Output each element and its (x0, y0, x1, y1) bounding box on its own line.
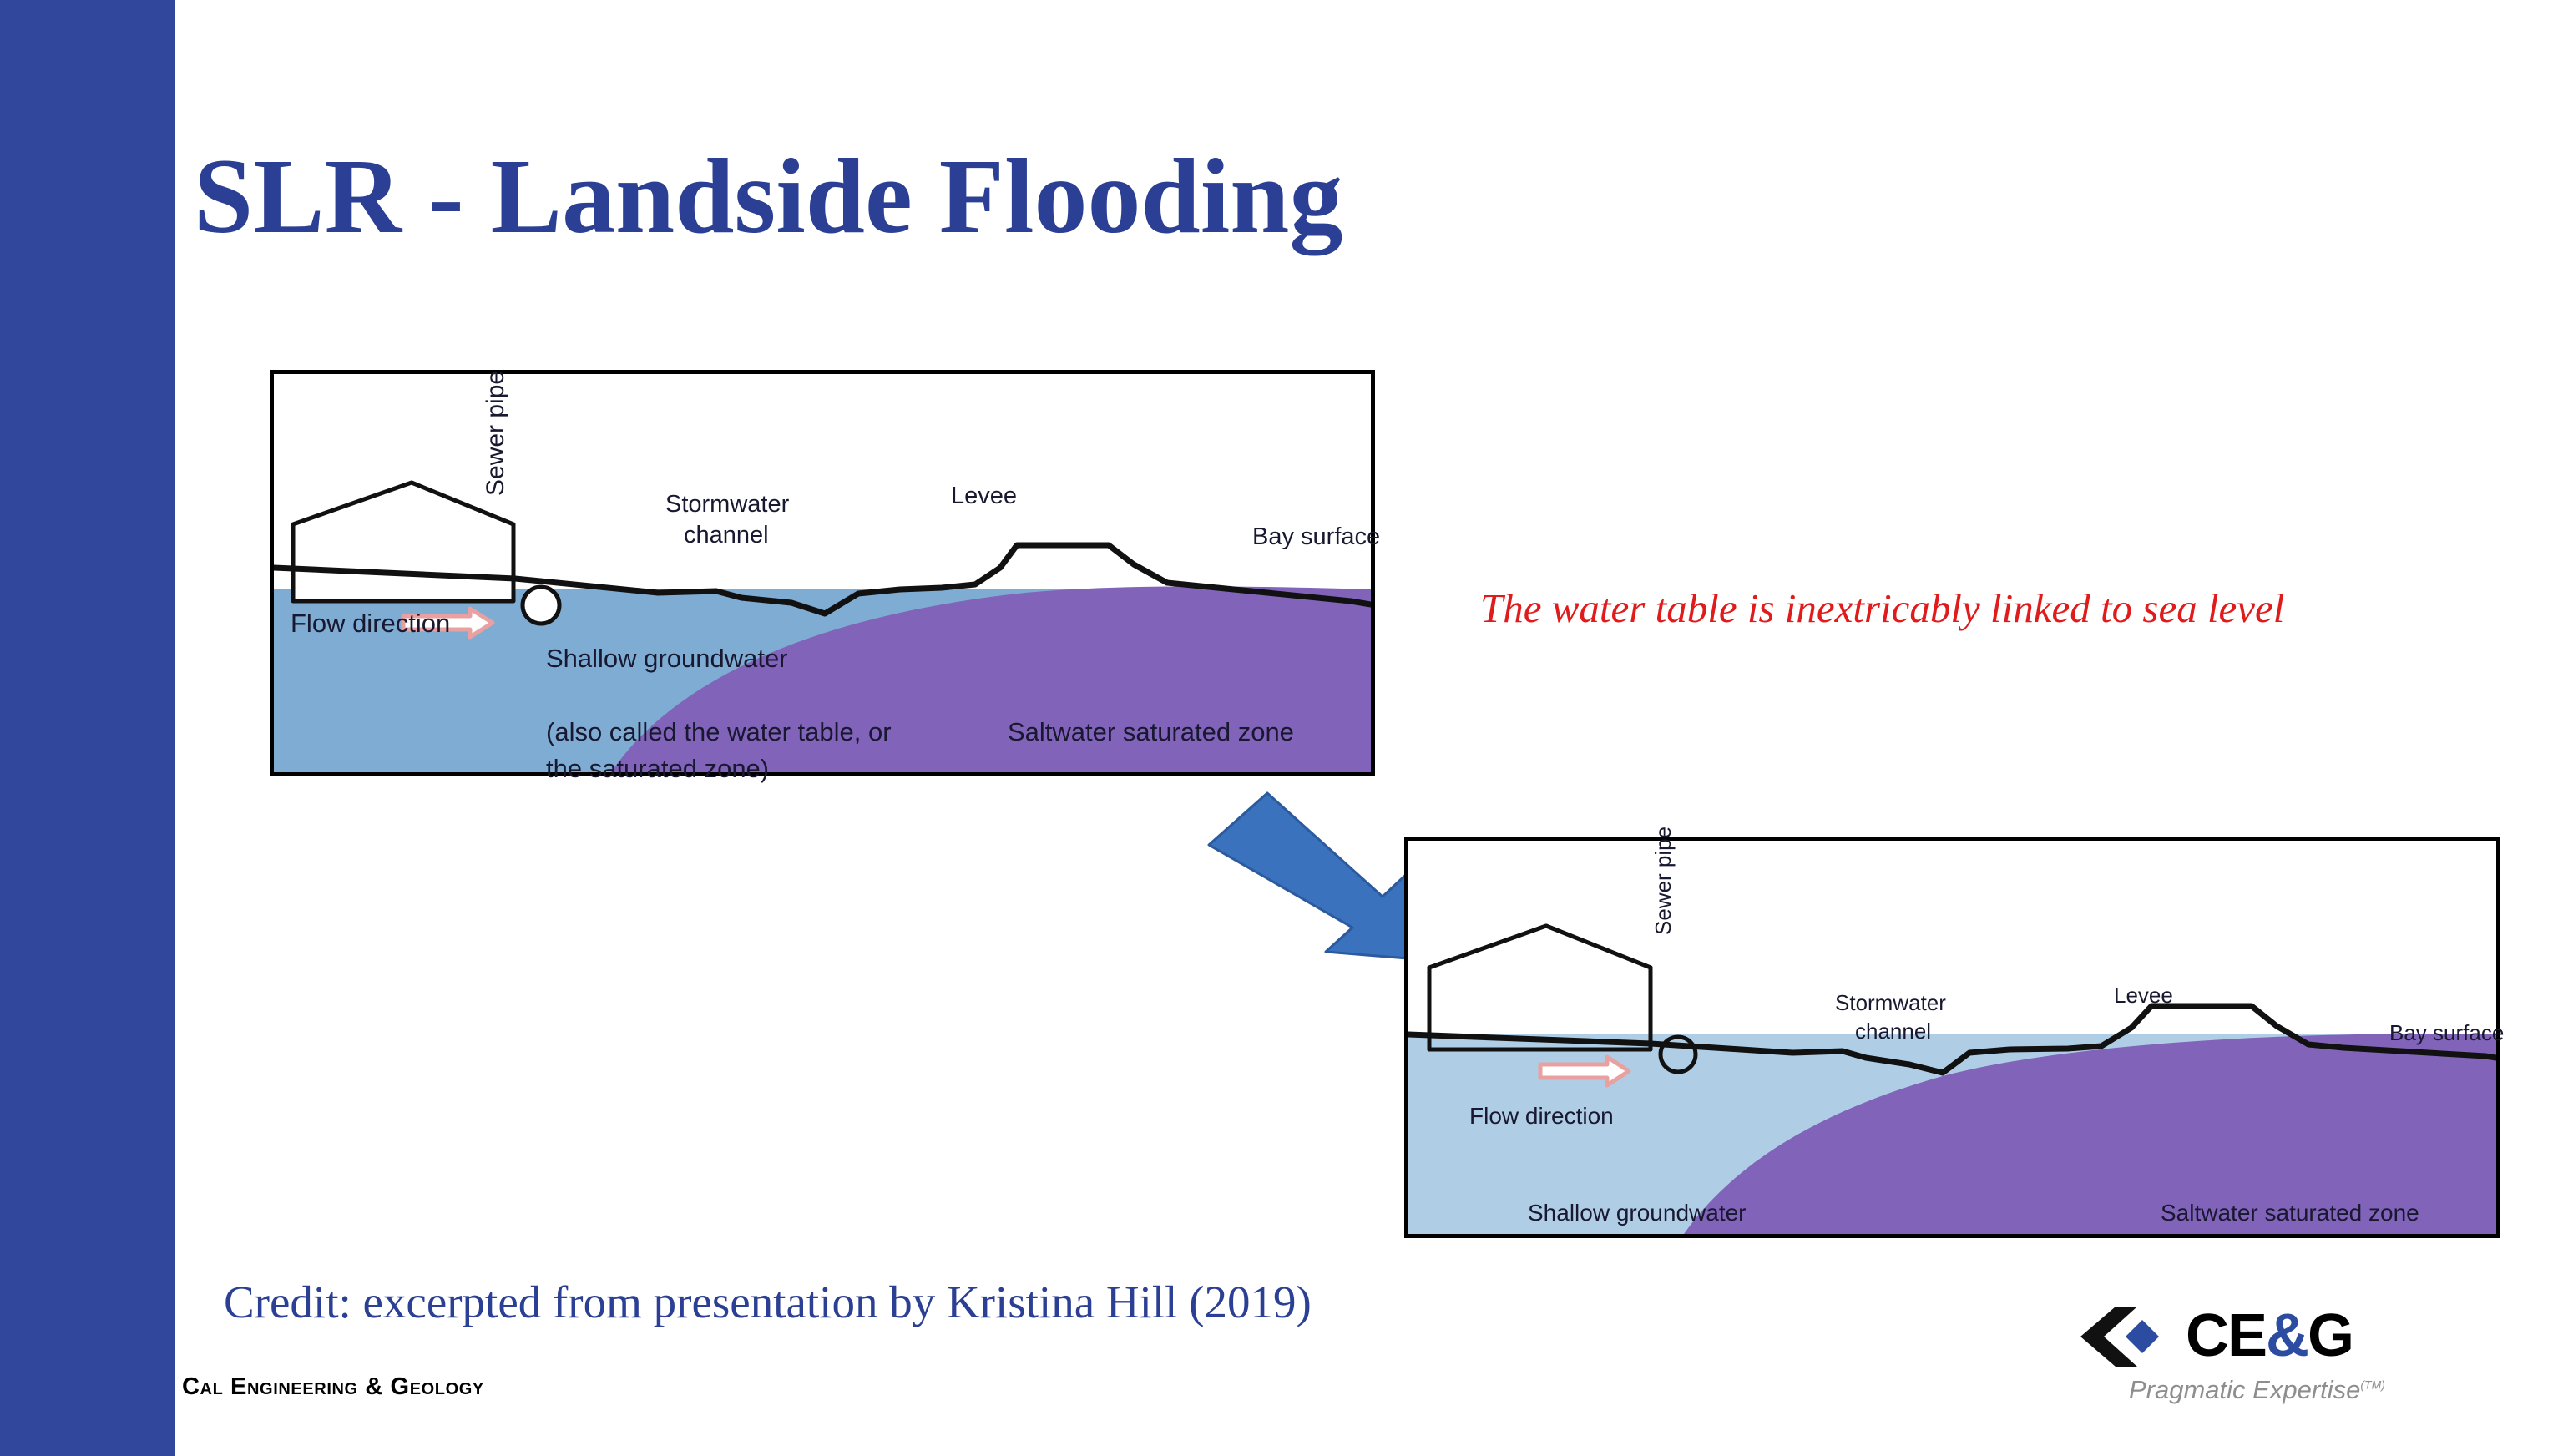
transition-arrow-svg (1202, 785, 1436, 985)
logo-word-amp: & (2266, 1302, 2308, 1369)
label-shallow-groundwater-top: Shallow groundwater (546, 644, 788, 674)
label-sewer-pipe-bottom: Sewer pipe (1651, 827, 1676, 935)
label-stormwater-bottom-line2: channel (1855, 1019, 1931, 1044)
logo-word-ce: CE (2186, 1302, 2266, 1369)
house-above-water-fill (1429, 926, 1651, 1034)
logo-word-g: G (2308, 1302, 2353, 1369)
label-shallow-groundwater-bottom: Shallow groundwater (1528, 1200, 1747, 1226)
chevron-diamond-icon (2079, 1305, 2187, 1368)
diamond-shape (2126, 1320, 2159, 1353)
label-levee-bottom: Levee (2114, 983, 2173, 1009)
diagram-top-svg (274, 374, 1371, 772)
label-also-called-line1: (also called the water table, or (546, 717, 892, 747)
label-stormwater-bottom-line1: Stormwater (1835, 990, 1946, 1016)
label-saltwater-zone-top: Saltwater saturated zone (1008, 717, 1294, 747)
logo-tagline: Pragmatic Expertise(TM) (2129, 1375, 2385, 1405)
logo-tagline-text: Pragmatic Expertise (2129, 1375, 2360, 1404)
house-outline (293, 483, 513, 601)
label-stormwater-top-line2: channel (684, 522, 769, 549)
label-flow-direction-top: Flow direction (291, 609, 450, 639)
diagram-present-day (270, 370, 1375, 776)
ceg-logo: CE&G Pragmatic Expertise(TM) (2079, 1305, 2429, 1413)
label-levee-top: Levee (951, 483, 1017, 510)
logo-wordmark: CE&G (2186, 1302, 2353, 1370)
footer-company-name: Cal Engineering & Geology (182, 1373, 484, 1401)
label-sewer-pipe-top: Sewer pipe (482, 371, 510, 496)
label-flow-direction-bottom: Flow direction (1469, 1103, 1614, 1130)
left-accent-bar (0, 0, 175, 1456)
diagram-sea-level-rise (1404, 837, 2500, 1238)
annotation-water-table: The water table is inextricably linked t… (1480, 584, 2284, 632)
diagram-bottom-svg (1408, 841, 2496, 1234)
label-bay-surface-bottom: Bay surface (2389, 1020, 2504, 1046)
label-also-called-line2: the saturated zone) (546, 754, 769, 784)
transition-arrow (1202, 785, 1436, 985)
label-saltwater-zone-bottom: Saltwater saturated zone (2161, 1200, 2419, 1226)
down-right-arrow-icon (1209, 793, 1409, 958)
sewer-pipe-circle (523, 587, 559, 624)
logo-tagline-tm: (TM) (2360, 1378, 2385, 1392)
page-title: SLR - Landside Flooding (194, 140, 1342, 252)
label-bay-surface-top: Bay surface (1252, 523, 1380, 551)
credit-text: Credit: excerpted from presentation by K… (224, 1276, 1312, 1328)
label-stormwater-top-line1: Stormwater (665, 491, 789, 518)
